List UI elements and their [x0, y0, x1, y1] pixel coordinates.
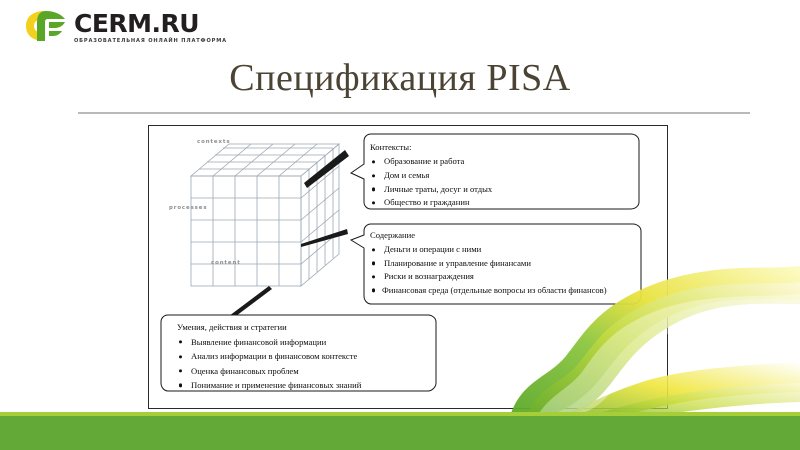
leaf-mark-icon: [24, 10, 68, 42]
title-divider: [78, 112, 750, 114]
callout-contexts: Контексты: Образование и работа Дом и се…: [350, 133, 640, 210]
list-item: Риски и вознаграждения: [370, 271, 628, 283]
callout-list: Деньги и операции с ними Планирование и …: [370, 244, 628, 296]
list-item: Понимание и применение финансовых знаний: [177, 379, 438, 391]
cube-label-processes: processes: [169, 205, 207, 211]
list-item: Оценка финансовых проблем: [177, 365, 438, 377]
logo-tagline: ОБРАЗОВАТЕЛЬНАЯ ОНЛАЙН ПЛАТФОРМА: [74, 39, 227, 44]
callout-heading: Контексты:: [370, 142, 626, 154]
callout-skills: Умения, действия и стратегии Выявление ф…: [160, 313, 450, 393]
logo-wordmark: CERM.RU: [74, 11, 227, 36]
callout-list: Выявление финансовой информации Анализ и…: [177, 336, 438, 392]
list-item: Образование и работа: [370, 156, 626, 168]
list-item: Анализ информации в финансовом контексте: [177, 350, 438, 362]
callout-heading: Умения, действия и стратегии: [177, 321, 438, 333]
slide-canvas: CERM.RU ОБРАЗОВАТЕЛЬНАЯ ОНЛАЙН ПЛАТФОРМА…: [0, 0, 800, 450]
callout-heading: Содержание: [370, 230, 628, 242]
brand-logo[interactable]: CERM.RU ОБРАЗОВАТЕЛЬНАЯ ОНЛАЙН ПЛАТФОРМА: [24, 10, 227, 44]
list-item: Выявление финансовой информации: [177, 336, 438, 348]
list-item: Личные траты, досуг и отдых: [370, 184, 626, 196]
callout-list: Образование и работа Дом и семья Личные …: [370, 156, 626, 209]
footer-bar: [0, 416, 800, 450]
list-item: Финансовая среда (отдельные вопросы из о…: [370, 285, 628, 296]
list-item: Общество и гражданин: [370, 197, 626, 209]
list-item: Планирование и управление финансами: [370, 258, 628, 270]
cube-label-contexts: contexts: [197, 139, 230, 145]
list-item: Дом и семья: [370, 170, 626, 182]
page-title: Спецификация PISA: [0, 56, 800, 100]
callout-content: Содержание Деньги и операции с ними План…: [350, 222, 642, 306]
list-item: Деньги и операции с ними: [370, 244, 628, 256]
cube-label-content: content: [211, 260, 241, 266]
